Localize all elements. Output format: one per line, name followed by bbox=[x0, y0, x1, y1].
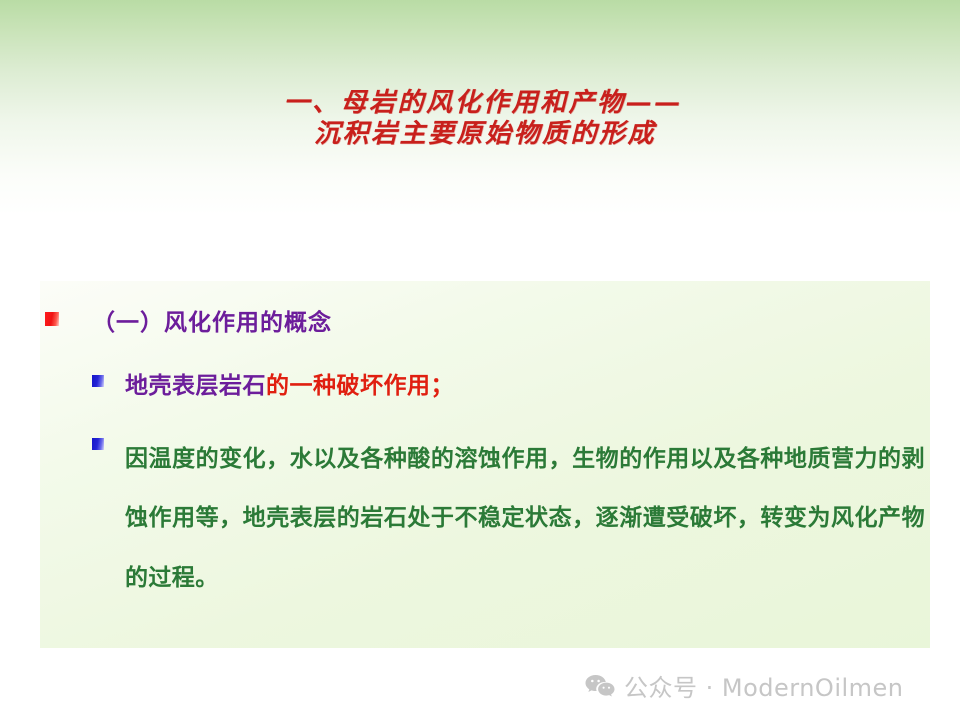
blue-square-bullet-icon bbox=[92, 438, 104, 450]
watermark: 公众号 · ModernOilmen bbox=[585, 668, 904, 703]
slide-canvas: 一、母岩的风化作用和产物—— 沉积岩主要原始物质的形成 （一）风化作用的概念 地… bbox=[0, 0, 960, 720]
content-panel: （一）风化作用的概念 地壳表层岩石的一种破坏作用； 因温度的变化，水以及各种酸的… bbox=[40, 281, 930, 648]
definition-text: 地壳表层岩石的一种破坏作用； bbox=[125, 366, 454, 400]
red-square-bullet-icon bbox=[45, 312, 59, 326]
blue-square-bullet-icon bbox=[92, 375, 104, 387]
wechat-icon bbox=[585, 674, 615, 698]
title-line-1: 一、母岩的风化作用和产物—— bbox=[0, 88, 960, 119]
concept-heading-text: （一）风化作用的概念 bbox=[92, 303, 332, 337]
definition-segment-subject: 地壳表层岩石 bbox=[125, 372, 266, 399]
title-line-2: 沉积岩主要原始物质的形成 bbox=[0, 119, 960, 150]
definition-segment-predicate: 的一种破坏作用； bbox=[266, 372, 454, 399]
bullet-item-description: 因温度的变化，水以及各种酸的溶蚀作用，生物的作用以及各种地质营力的剥蚀作用等，地… bbox=[92, 429, 932, 607]
description-paragraph-text: 因温度的变化，水以及各种酸的溶蚀作用，生物的作用以及各种地质营力的剥蚀作用等，地… bbox=[125, 429, 925, 607]
slide-title: 一、母岩的风化作用和产物—— 沉积岩主要原始物质的形成 bbox=[0, 88, 960, 149]
bullet-item-concept-heading: （一）风化作用的概念 bbox=[45, 303, 332, 337]
watermark-text: 公众号 · ModernOilmen bbox=[624, 668, 904, 703]
bullet-item-definition: 地壳表层岩石的一种破坏作用； bbox=[92, 366, 454, 400]
